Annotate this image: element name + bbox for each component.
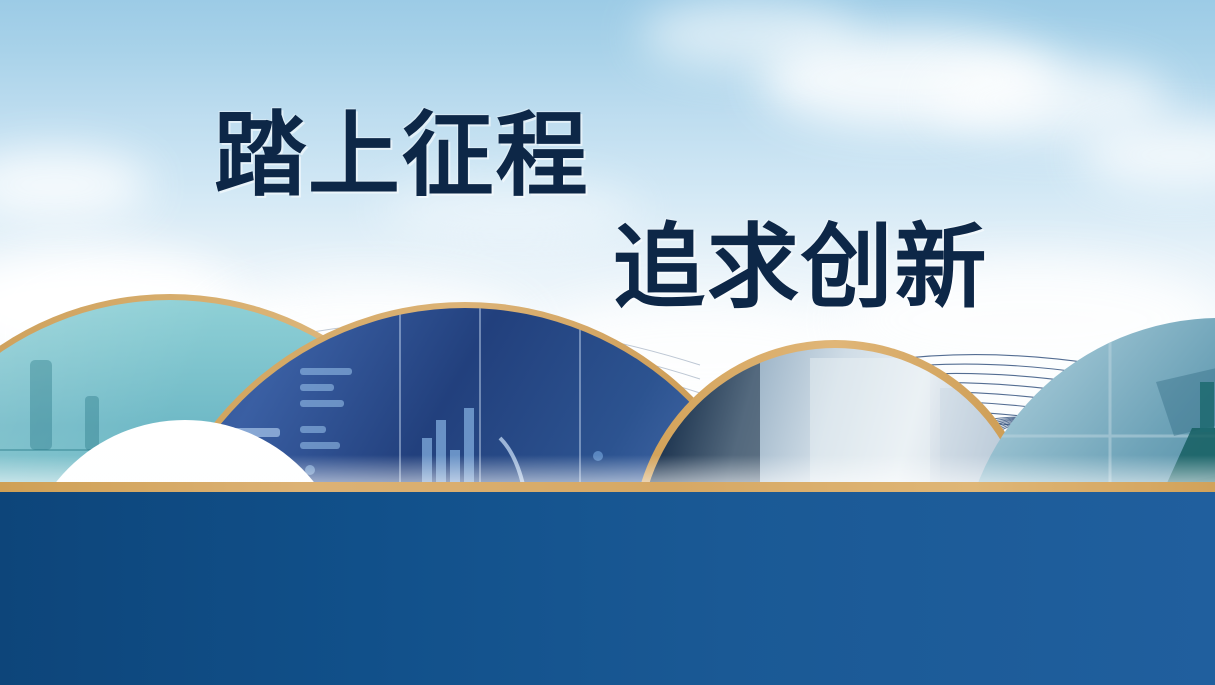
headline-line-2: 追求创新 [613,222,988,314]
gold-divider-bar [0,482,1215,492]
bottom-white-fade [0,455,1215,483]
cloud-shape [640,0,860,70]
headline-line-1: 踏上征程 [214,110,589,202]
cover-slide: 踏上征程 追求创新 浙江启程新材料科技有限公司 ZHEJIANG QICHENG… [0,0,1215,685]
footer-band: 浙江启程新材料科技有限公司 ZHEJIANG QICHENG NEW MATER… [0,492,1215,685]
